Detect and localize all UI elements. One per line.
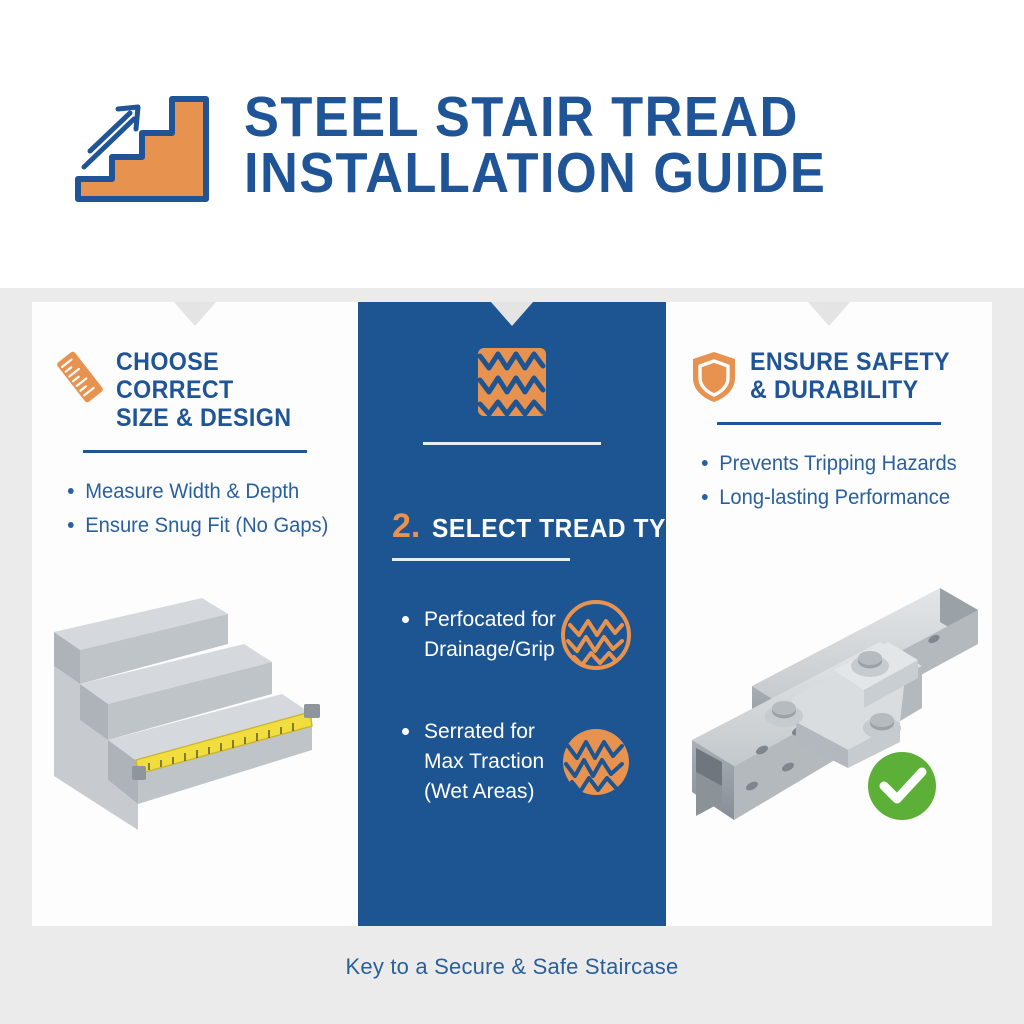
column-notch xyxy=(174,302,216,326)
title-line-1: STEEL STAIR TREAD xyxy=(244,90,826,146)
right-heading: ENSURE SAFETY & DURABILITY xyxy=(750,348,950,404)
right-divider xyxy=(717,422,941,425)
check-circle-icon xyxy=(868,752,936,820)
footer: Key to a Secure & Safe Staircase xyxy=(0,938,1024,1024)
stairs-arrow-icon xyxy=(68,83,228,211)
list-item: Measure Width & Depth xyxy=(66,475,323,509)
list-item: Ensure Snug Fit (No Gaps) xyxy=(66,509,323,543)
header: STEEL STAIR TREAD INSTALLATION GUIDE xyxy=(0,0,1024,288)
right-bullet-list: Prevents Tripping Hazards Long-lasting P… xyxy=(690,447,968,514)
left-heading-row: CHOOSE CORRECT SIZE & DESIGN xyxy=(56,348,334,432)
center-bullet-list: Perfocated for Drainage/Grip xyxy=(386,599,638,852)
left-heading-line-2: SIZE & DESIGN xyxy=(116,404,319,432)
staircase-with-measuring-tape-illustration xyxy=(32,580,358,870)
list-item: Serrated for Max Traction (Wet Areas) xyxy=(400,717,638,806)
list-item: Long-lasting Performance xyxy=(700,481,957,515)
footer-text: Key to a Secure & Safe Staircase xyxy=(346,954,679,980)
infographic-page: STEEL STAIR TREAD INSTALLATION GUIDE xyxy=(0,0,1024,1024)
bolted-steel-channel-illustration xyxy=(666,570,992,860)
shield-icon xyxy=(690,350,738,404)
column-select-tread-type[interactable]: 2. SELECT TREAD TYPE Perfocated for Drai… xyxy=(358,302,666,926)
page-title: STEEL STAIR TREAD INSTALLATION GUIDE xyxy=(244,90,877,202)
center-bullet-label: Serrated for Max Traction (Wet Areas) xyxy=(400,717,560,806)
body-band: CHOOSE CORRECT SIZE & DESIGN Measure Wid… xyxy=(0,288,1024,1024)
ruler-icon xyxy=(56,350,104,404)
right-heading-row: ENSURE SAFETY & DURABILITY xyxy=(690,348,968,404)
left-heading-line-1: CHOOSE CORRECT xyxy=(116,348,319,404)
center-divider-bottom xyxy=(392,558,570,561)
left-bullet-list: Measure Width & Depth Ensure Snug Fit (N… xyxy=(56,475,334,542)
center-bullet-label: Perfocated for Drainage/Grip xyxy=(400,605,560,665)
columns-container: CHOOSE CORRECT SIZE & DESIGN Measure Wid… xyxy=(32,302,992,926)
right-heading-line-2: & DURABILITY xyxy=(750,376,950,404)
column-choose-size[interactable]: CHOOSE CORRECT SIZE & DESIGN Measure Wid… xyxy=(32,302,358,926)
column-ensure-safety[interactable]: ENSURE SAFETY & DURABILITY Prevents Trip… xyxy=(666,302,992,926)
left-heading: CHOOSE CORRECT SIZE & DESIGN xyxy=(116,348,319,432)
serrated-tread-circle-icon xyxy=(560,726,632,798)
list-item: Perfocated for Drainage/Grip xyxy=(400,599,638,671)
title-line-2: INSTALLATION GUIDE xyxy=(244,146,826,202)
list-item: Prevents Tripping Hazards xyxy=(700,447,957,481)
perforated-tread-circle-icon xyxy=(560,599,632,671)
right-heading-line-1: ENSURE SAFETY xyxy=(750,348,950,376)
step-number: 2. xyxy=(392,509,420,543)
center-divider-top xyxy=(423,442,601,445)
left-divider xyxy=(83,450,307,453)
column-notch xyxy=(491,302,533,326)
serrated-tread-square-icon xyxy=(476,346,548,418)
center-heading: SELECT TREAD TYPE xyxy=(432,513,700,544)
column-notch xyxy=(808,302,850,326)
